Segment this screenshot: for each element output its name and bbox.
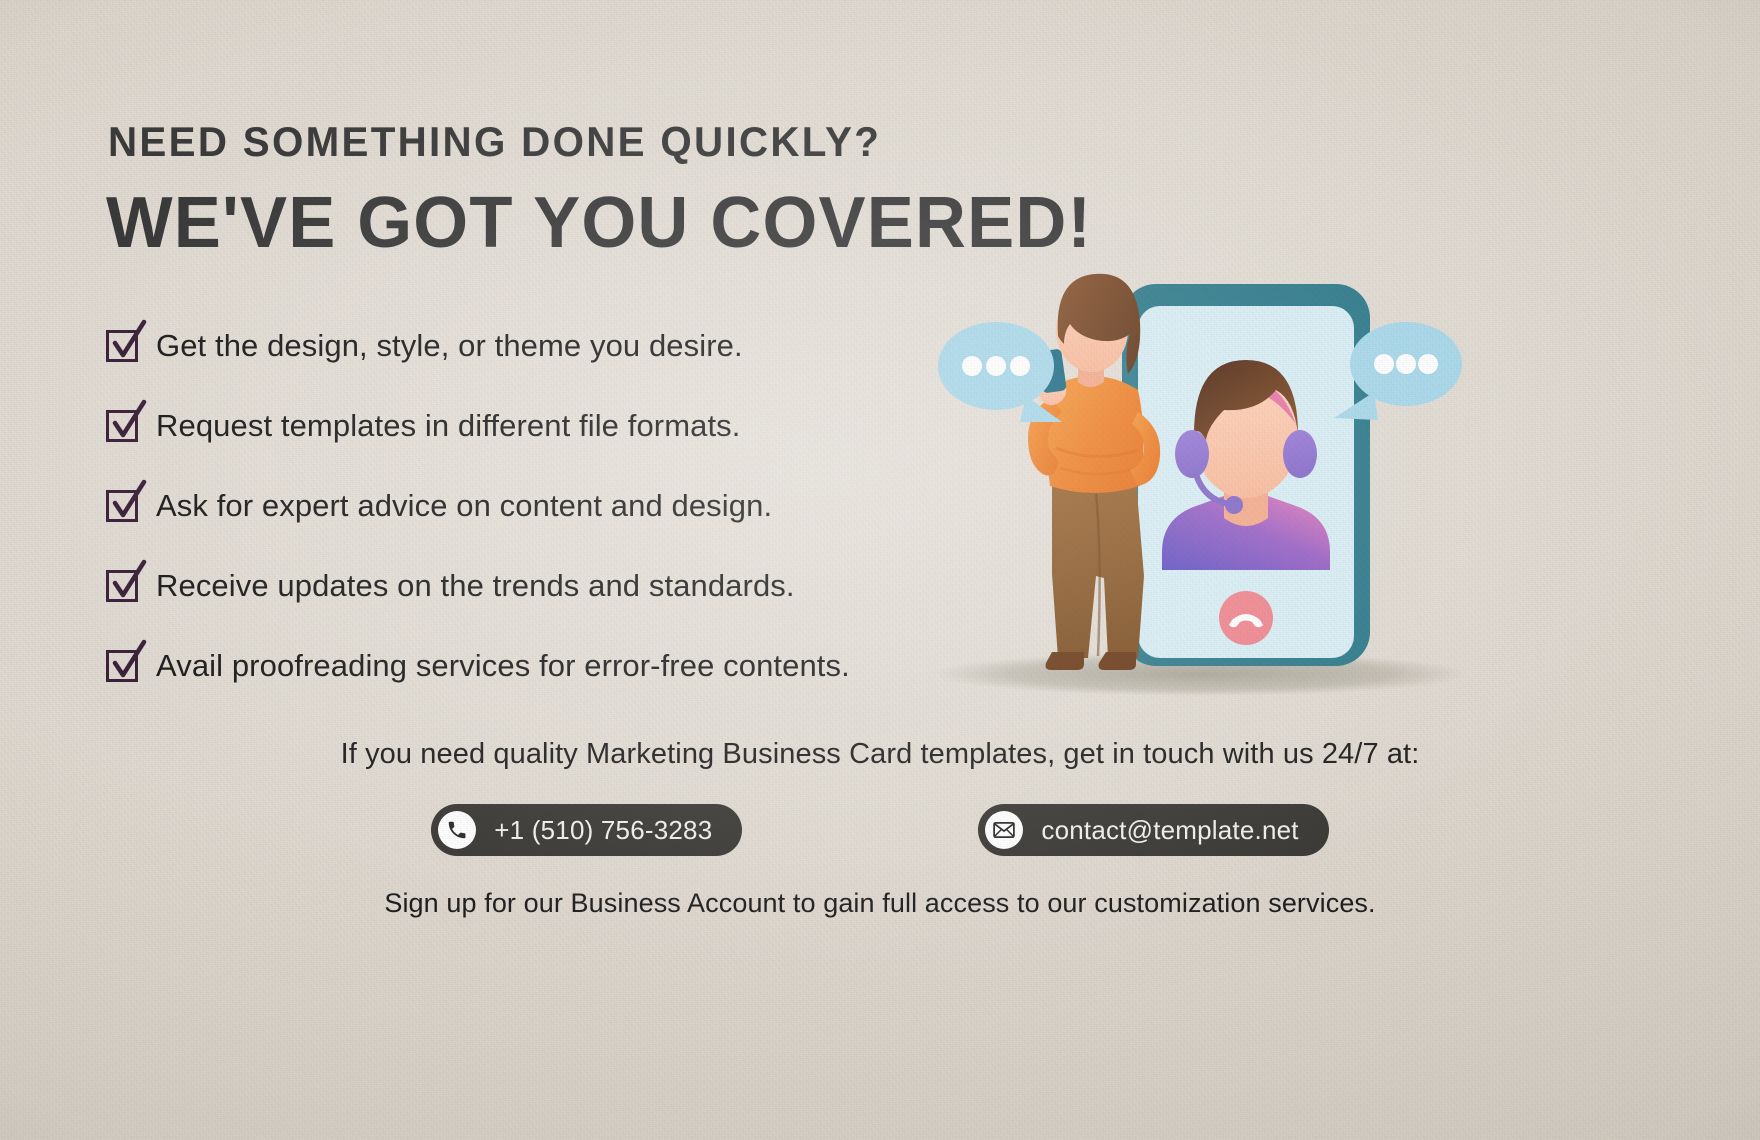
phone-icon <box>438 811 476 849</box>
shoe-left <box>1046 652 1084 670</box>
phone-contact-button[interactable]: +1 (510) 756-3283 <box>431 804 742 856</box>
checkbox-checked-icon <box>106 330 138 362</box>
phone-number-label: +1 (510) 756-3283 <box>494 815 712 846</box>
list-item: Request templates in different file form… <box>106 386 946 466</box>
contact-intro-text: If you need quality Marketing Business C… <box>0 738 1760 771</box>
kicker-heading: NEED SOMETHING DONE QUICKLY? <box>108 118 881 166</box>
email-contact-button[interactable]: contact@template.net <box>978 804 1328 856</box>
page-title: WE'VE GOT YOU COVERED! <box>106 182 1092 264</box>
checkbox-checked-icon <box>106 490 138 522</box>
list-item-label: Get the design, style, or theme you desi… <box>156 328 743 364</box>
benefits-list: Get the design, style, or theme you desi… <box>106 306 946 706</box>
checkbox-checked-icon <box>106 650 138 682</box>
list-item-label: Avail proofreading services for error-fr… <box>156 648 850 684</box>
list-item: Receive updates on the trends and standa… <box>106 546 946 626</box>
signup-text: Sign up for our Business Account to gain… <box>0 888 1760 919</box>
list-item: Avail proofreading services for error-fr… <box>106 626 946 706</box>
checkbox-checked-icon <box>106 570 138 602</box>
list-item: Ask for expert advice on content and des… <box>106 466 946 546</box>
list-item-label: Ask for expert advice on content and des… <box>156 488 772 524</box>
envelope-icon <box>985 811 1023 849</box>
customer-support-call-illustration <box>900 262 1500 712</box>
checkbox-checked-icon <box>106 410 138 442</box>
list-item-label: Request templates in different file form… <box>156 408 741 444</box>
email-address-label: contact@template.net <box>1041 815 1298 846</box>
end-call-button <box>1219 591 1273 645</box>
contact-pills: +1 (510) 756-3283 contact@template.net <box>0 804 1760 856</box>
headphone-left <box>1175 430 1209 478</box>
poster-canvas: NEED SOMETHING DONE QUICKLY? WE'VE GOT Y… <box>0 0 1760 1140</box>
list-item-label: Receive updates on the trends and standa… <box>156 568 795 604</box>
headphone-right <box>1283 430 1317 478</box>
list-item: Get the design, style, or theme you desi… <box>106 306 946 386</box>
